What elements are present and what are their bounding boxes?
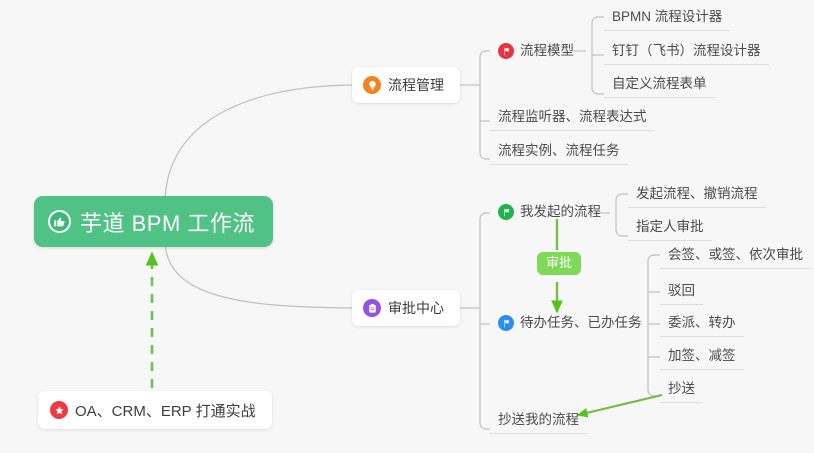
approval-badge[interactable]: 审批 (537, 252, 581, 275)
node-my-initiated[interactable]: 我发起的流程 (490, 203, 609, 226)
node-custom-form[interactable]: 自定义流程表单 (604, 75, 715, 98)
node-dingtalk-designer[interactable]: 钉钉（飞书）流程设计器 (604, 42, 769, 65)
star-icon (50, 401, 68, 419)
root-label: 芋道 BPM 工作流 (80, 206, 255, 238)
node-label-cc-to-me: 抄送我的流程 (498, 411, 579, 429)
branch-label-process-management: 流程管理 (388, 75, 444, 95)
node-label-dingtalk-designer: 钉钉（飞书）流程设计器 (612, 42, 761, 60)
node-label-process-instance: 流程实例、流程任务 (498, 142, 620, 160)
flag-icon (498, 43, 514, 59)
node-process-instance[interactable]: 流程实例、流程任务 (490, 142, 628, 165)
node-label-cc: 抄送 (668, 380, 695, 398)
node-label-process-listener: 流程监听器、流程表达式 (498, 108, 647, 126)
link-model-top (592, 17, 604, 23)
node-process-model[interactable]: 流程模型 (490, 42, 582, 65)
link-approval-bottom (480, 423, 490, 429)
node-label-bpmn-designer: BPMN 流程设计器 (612, 8, 722, 26)
link-root-approval (165, 240, 352, 308)
link-process-bottom-corner (480, 153, 490, 159)
node-label-add-remove-sign: 加签、减签 (668, 347, 736, 365)
node-assignee-approval[interactable]: 指定人审批 (628, 218, 712, 241)
link-todo-top (648, 255, 660, 261)
arrow-cc-to-ccmine (578, 395, 662, 415)
node-reject[interactable]: 驳回 (660, 282, 703, 305)
branch-node-process-management[interactable]: 流程管理 (352, 67, 460, 103)
flag-icon (498, 315, 514, 331)
branch-node-approval-center[interactable]: 审批中心 (352, 290, 460, 326)
node-label-process-model: 流程模型 (520, 42, 574, 60)
lightbulb-icon (363, 76, 381, 94)
link-root-process (165, 85, 352, 204)
node-label-reject: 驳回 (668, 282, 695, 300)
clipboard-icon (363, 299, 381, 317)
branch-label-approval-center: 审批中心 (388, 298, 444, 318)
node-start-cancel-process[interactable]: 发起流程、撤销流程 (628, 185, 766, 208)
node-label-custom-form: 自定义流程表单 (612, 75, 707, 93)
node-label-start-cancel-process: 发起流程、撤销流程 (636, 185, 758, 203)
node-label-todo-done-tasks: 待办任务、已办任务 (520, 314, 642, 332)
flag-icon (498, 204, 514, 220)
thumbs-up-icon (48, 210, 71, 233)
node-label-delegate-transfer: 委派、转办 (668, 314, 736, 332)
node-todo-done-tasks[interactable]: 待办任务、已办任务 (490, 314, 650, 337)
node-process-listener[interactable]: 流程监听器、流程表达式 (490, 108, 655, 131)
link-init-bottom (616, 230, 628, 236)
node-cc-to-me[interactable]: 抄送我的流程 (490, 411, 587, 434)
root-node[interactable]: 芋道 BPM 工作流 (34, 196, 273, 247)
node-oa-crm-erp[interactable]: OA、CRM、ERP 打通实战 (38, 391, 272, 429)
link-approval-top (480, 213, 490, 219)
node-label-oa-crm-erp: OA、CRM、ERP 打通实战 (75, 400, 256, 421)
link-init-top (616, 194, 628, 200)
node-countersign[interactable]: 会签、或签、依次审批 (660, 246, 811, 269)
node-label-assignee-approval: 指定人审批 (636, 218, 704, 236)
node-label-countersign: 会签、或签、依次审批 (668, 246, 803, 264)
node-bpmn-designer[interactable]: BPMN 流程设计器 (604, 8, 730, 31)
node-cc[interactable]: 抄送 (660, 380, 703, 403)
link-process-top-corner (480, 51, 490, 57)
node-add-remove-sign[interactable]: 加签、减签 (660, 347, 744, 370)
mindmap-canvas: 芋道 BPM 工作流 流程管理 流程模型 BPMN 流程设计器 钉钉（飞书）流程… (0, 0, 814, 453)
approval-badge-label: 审批 (546, 255, 572, 270)
node-delegate-transfer[interactable]: 委派、转办 (660, 314, 744, 337)
link-model-bottom (592, 88, 604, 94)
node-label-my-initiated: 我发起的流程 (520, 203, 601, 221)
